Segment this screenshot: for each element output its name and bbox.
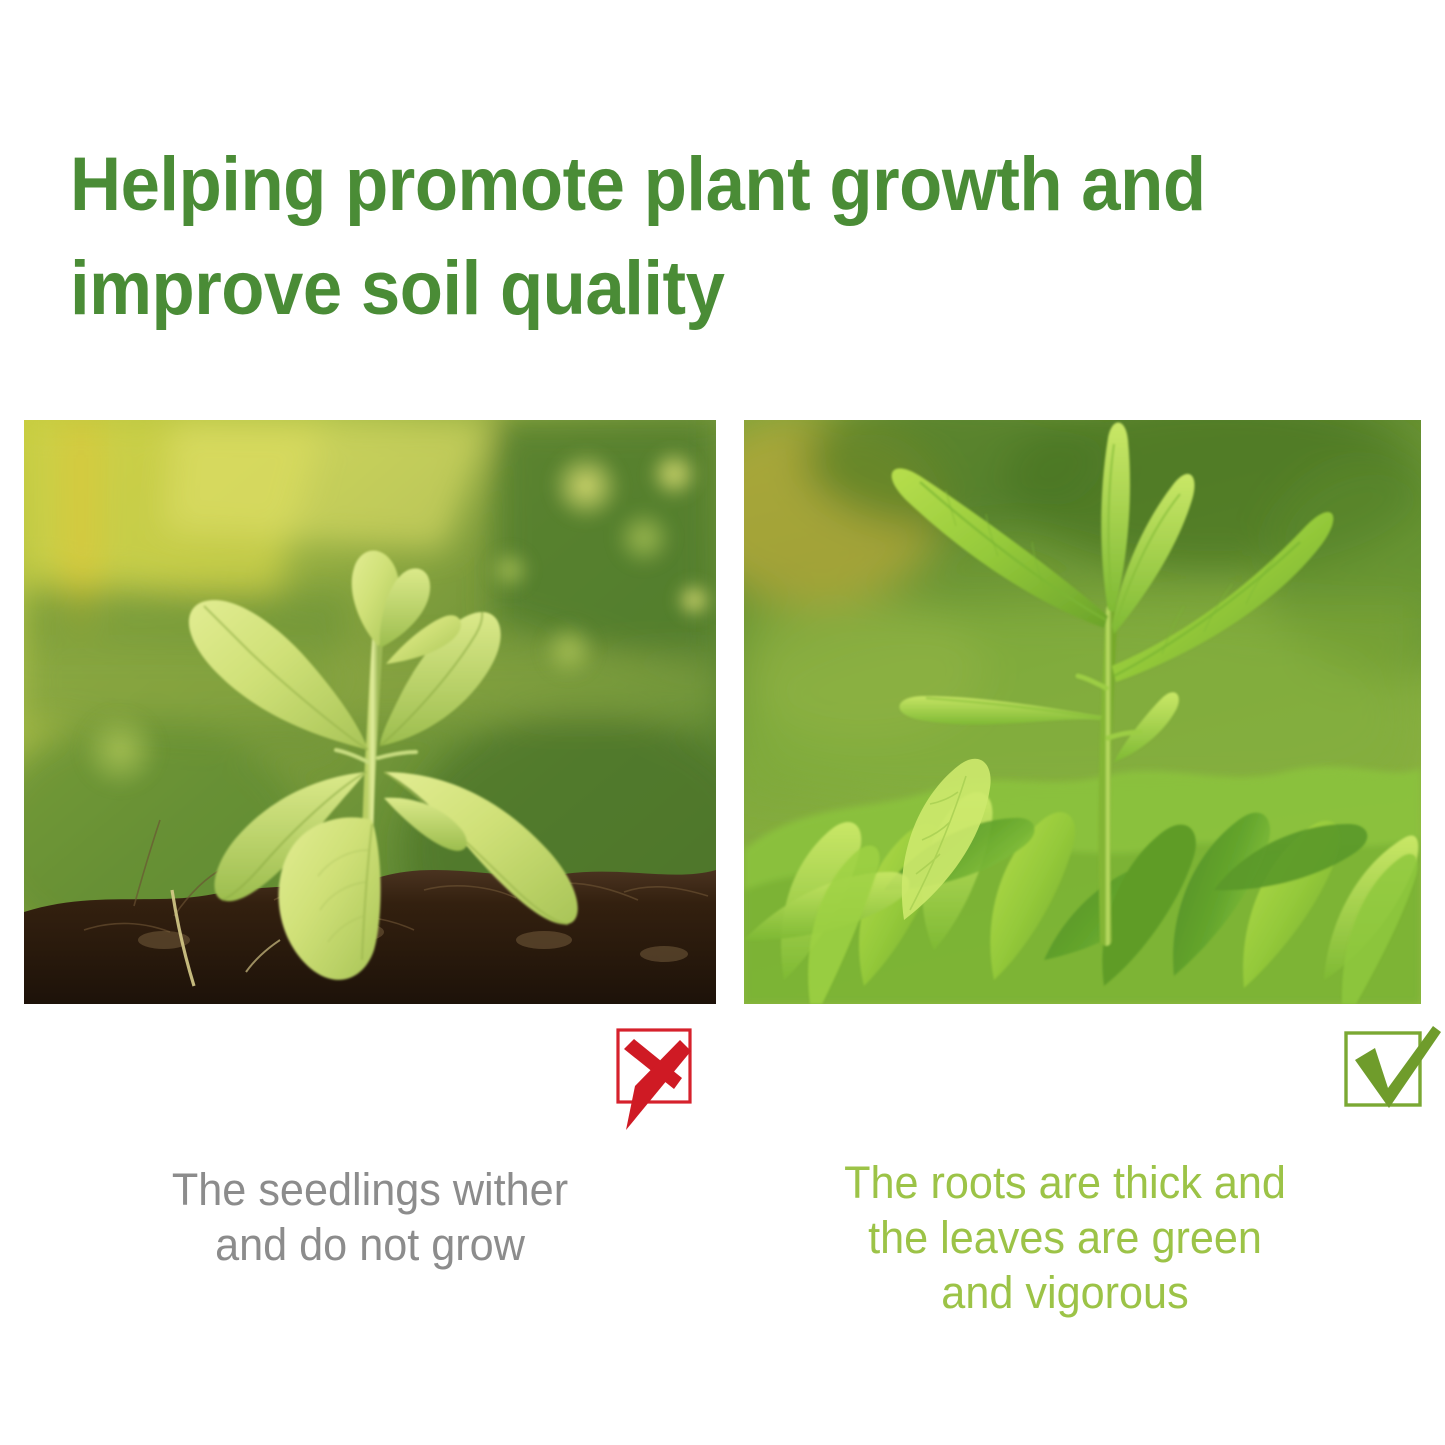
caption-right: The roots are thick and the leaves are g… <box>755 1155 1375 1320</box>
comparison-photo-right <box>744 420 1421 1004</box>
comparison-photo-left <box>24 420 716 1004</box>
caption-left: The seedlings wither and do not grow <box>34 1162 706 1272</box>
red-cross-icon <box>604 1022 714 1137</box>
green-check-icon <box>1336 1024 1441 1124</box>
page-title: Helping promote plant growth and improve… <box>70 133 1298 341</box>
